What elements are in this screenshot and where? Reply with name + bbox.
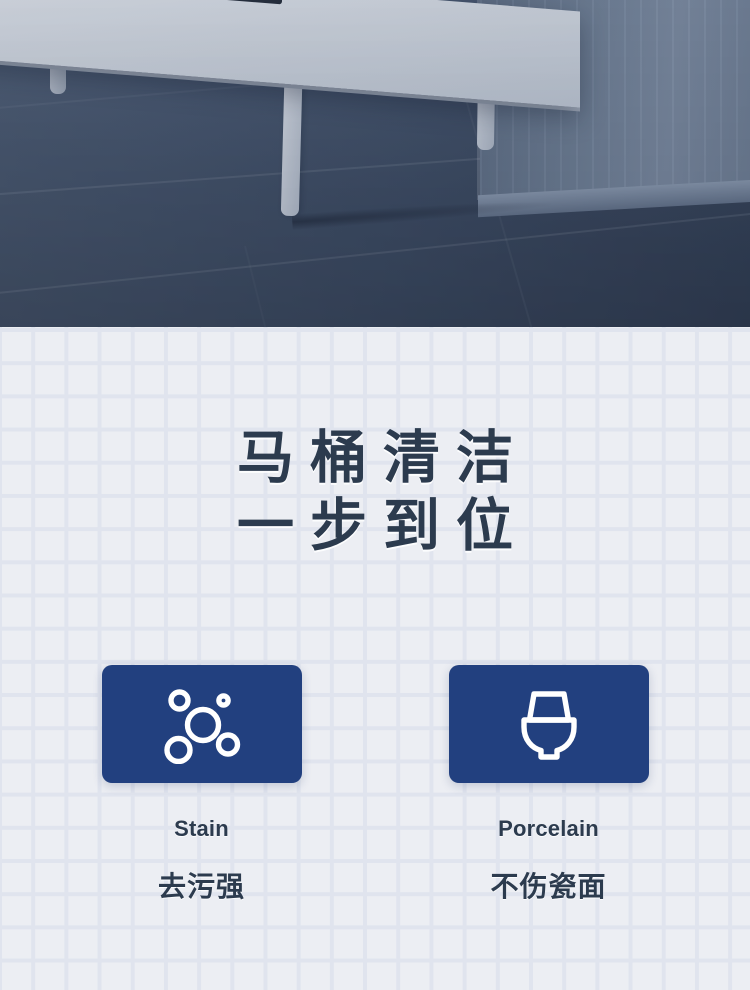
- feature-label-cn: 不伤瓷面: [490, 865, 606, 905]
- feature-grid: Stain 去污强 Porcelain 不伤瓷面: [0, 665, 750, 990]
- feature-label-en: Porcelain: [498, 816, 599, 842]
- feature-icon-tile[interactable]: [449, 665, 649, 783]
- feature-label-cn: 去污强: [158, 865, 245, 905]
- feature-card-porcelain[interactable]: Porcelain 不伤瓷面: [449, 665, 649, 905]
- page-title: 马桶清洁 一步到位: [0, 424, 750, 560]
- feature-card-stain[interactable]: Stain 去污强: [102, 665, 302, 905]
- feature-row-1: Stain 去污强 Porcelain 不伤瓷面: [0, 665, 750, 905]
- headline-line-1: 马桶清洁: [0, 424, 750, 492]
- product-detail-page: 马桶清洁 一步到位 Stain: [0, 0, 750, 990]
- bubbles-icon: [157, 684, 247, 764]
- headline-line-2: 一步到位: [0, 492, 750, 560]
- feature-label-en: Stain: [174, 816, 229, 842]
- photo-color-tint: [0, 0, 750, 327]
- feature-icon-tile[interactable]: [102, 665, 302, 783]
- toilet-icon: [511, 684, 587, 764]
- hero-photo: [0, 0, 750, 327]
